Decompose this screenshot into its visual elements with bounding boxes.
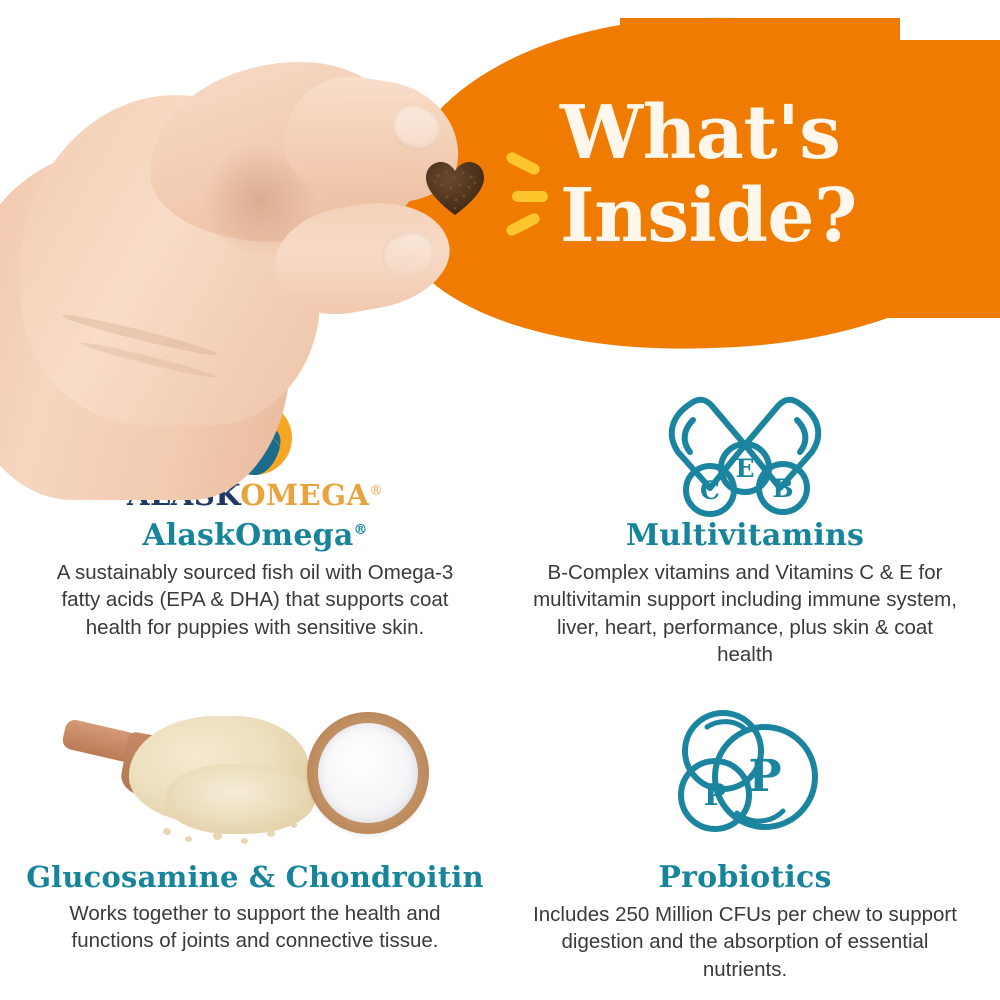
card-body-glucosamine: Works together to support the health and… xyxy=(20,900,490,955)
powder-crumb xyxy=(291,822,297,828)
card-title-multivitamins: Multivitamins xyxy=(510,518,980,553)
card-title-text: Glucosamine & Chondroitin xyxy=(26,860,484,894)
card-title-text: Multivitamins xyxy=(626,518,864,553)
white-powder xyxy=(318,723,418,823)
card-body-multivitamins: B-Complex vitamins and Vitamins C & E fo… xyxy=(510,559,980,668)
probiotics-art: P P xyxy=(510,702,980,852)
registered-mark: ® xyxy=(353,522,367,538)
blob-corner-mask xyxy=(900,0,1000,40)
card-multivitamins: C E B Multivitamins B-Complex vitamins a… xyxy=(510,390,980,668)
card-body-probiotics: Includes 250 Million CFUs per chew to su… xyxy=(510,901,980,983)
card-title-glucosamine: Glucosamine & Chondroitin xyxy=(20,860,490,894)
multivitamins-art: C E B xyxy=(510,390,980,510)
card-title-probiotics: Probiotics xyxy=(510,860,980,895)
powder-crumb xyxy=(185,836,192,842)
probiotic-letter-small: P xyxy=(704,778,727,813)
card-body-alaskomega: A sustainably sourced fish oil with Omeg… xyxy=(20,559,490,641)
card-probiotics: P P Probiotics Includes 250 Million CFUs… xyxy=(510,702,980,983)
infographic-page: What's Inside? xyxy=(0,0,1000,1000)
card-title-alaskomega: AlaskOmega® xyxy=(20,518,490,553)
vitamin-badge-b: B xyxy=(772,474,793,503)
probiotic-bubbles-icon: P P xyxy=(665,707,825,847)
card-title-text: Probiotics xyxy=(658,860,831,895)
vitamin-badge-e: E xyxy=(735,454,754,483)
probiotic-letter-large: P xyxy=(748,751,781,802)
page-title: What's Inside? xyxy=(560,92,980,258)
powder-crumb xyxy=(241,838,248,844)
wooden-bowl xyxy=(307,712,429,834)
sparkle-dash-middle xyxy=(512,191,548,202)
hand-photo xyxy=(0,0,520,500)
glucosamine-art xyxy=(20,702,490,852)
powder-crumb xyxy=(213,832,222,840)
hero-section: What's Inside? xyxy=(0,0,1000,370)
vitamin-badge-c: C xyxy=(700,476,720,505)
powder-crumb xyxy=(267,830,275,837)
crossed-capsules-icon: C E B xyxy=(650,390,840,510)
heart-chew-icon xyxy=(424,160,486,218)
powder-crumb xyxy=(163,828,171,835)
card-glucosamine: Glucosamine & Chondroitin Works together… xyxy=(20,702,490,955)
powder-scoop-and-bowl-photo xyxy=(45,702,465,852)
page-title-line-1: What's xyxy=(560,90,840,176)
card-title-text: AlaskOmega xyxy=(142,518,353,553)
page-title-line-2: Inside? xyxy=(560,175,980,258)
